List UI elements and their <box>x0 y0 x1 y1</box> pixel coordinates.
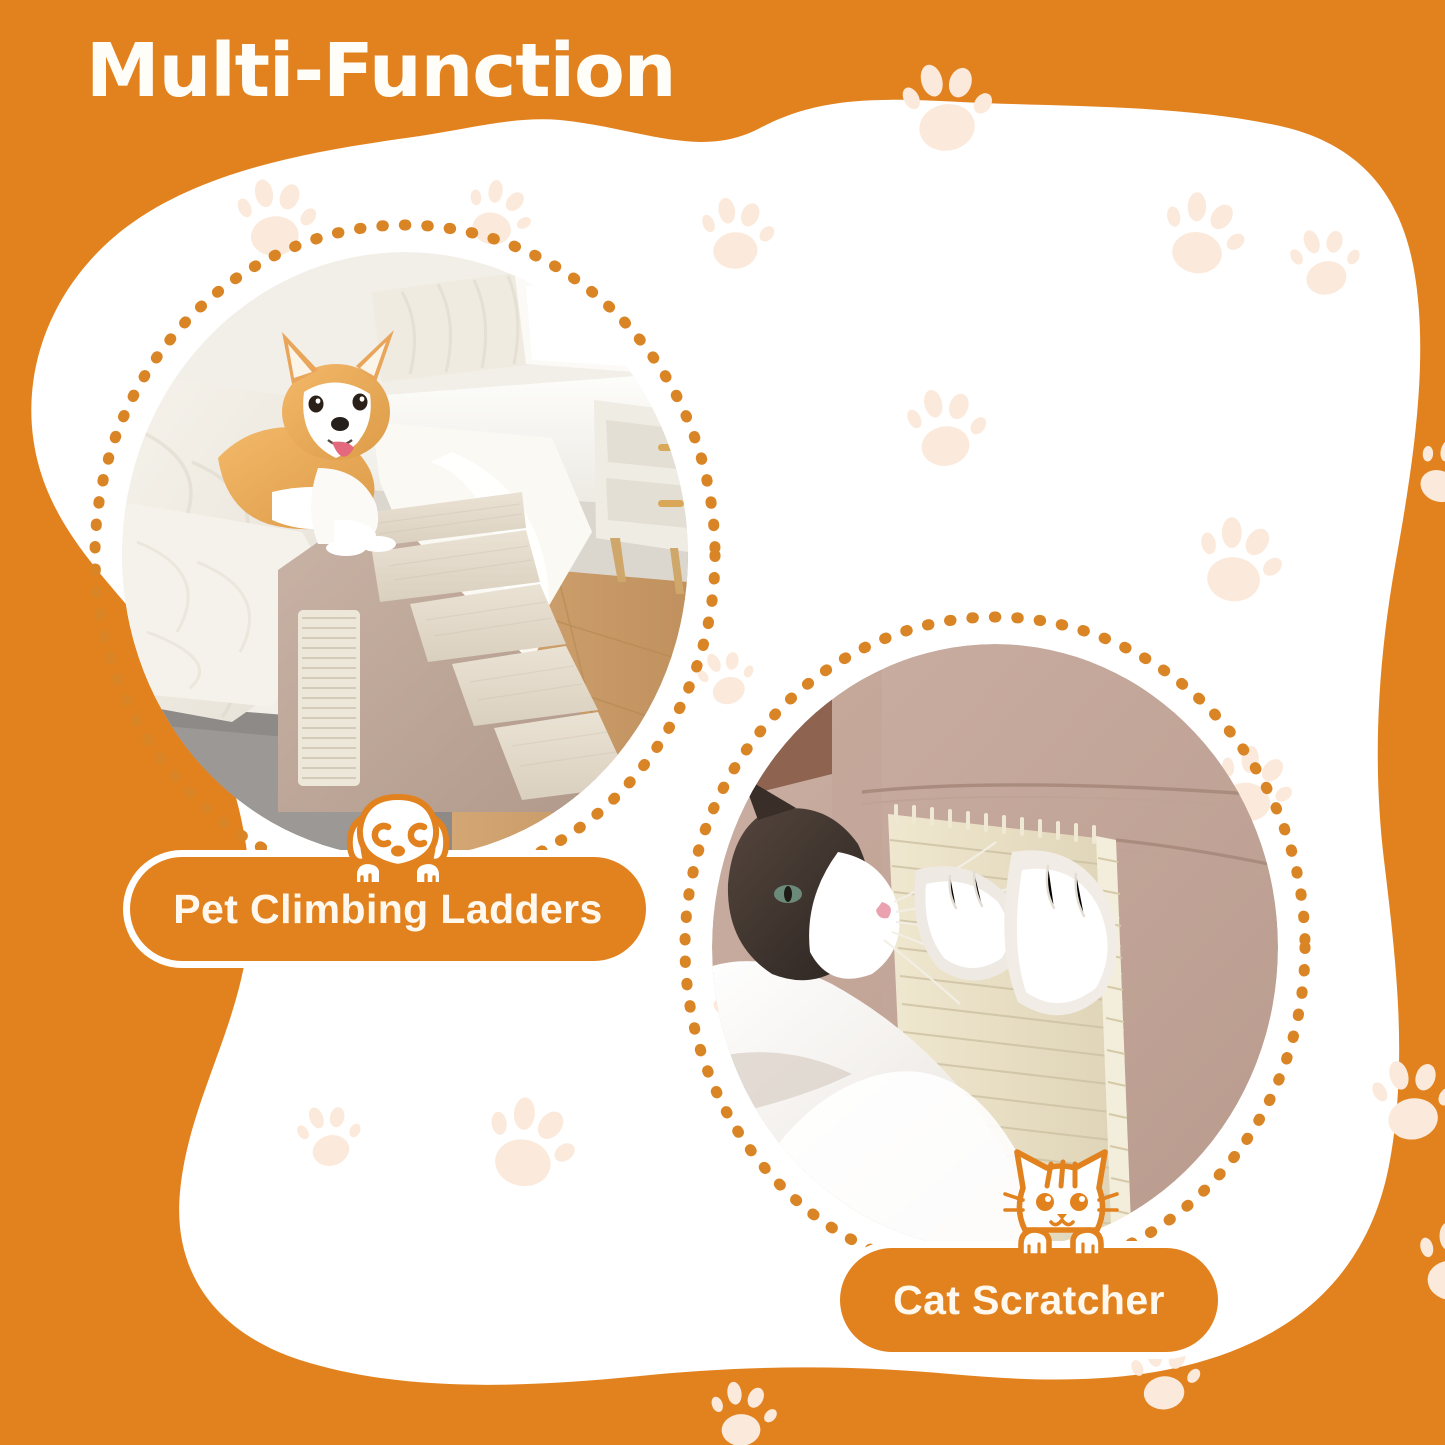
badge-label: Cat Scratcher <box>893 1277 1165 1324</box>
badge-label: Pet Climbing Ladders <box>173 886 602 933</box>
page-title: Multi-Function <box>86 34 676 108</box>
cat-face-icon <box>1003 1144 1119 1256</box>
photo-pet-climbing-ladders <box>122 252 688 858</box>
badge-cat-scratcher[interactable]: Cat Scratcher <box>840 1248 1218 1352</box>
dog-face-icon <box>336 789 460 885</box>
photo-cat-scratcher <box>712 644 1278 1250</box>
feature-card-cat-scratcher[interactable] <box>668 600 1322 1294</box>
infographic-canvas: Multi-Function <box>0 0 1445 1445</box>
